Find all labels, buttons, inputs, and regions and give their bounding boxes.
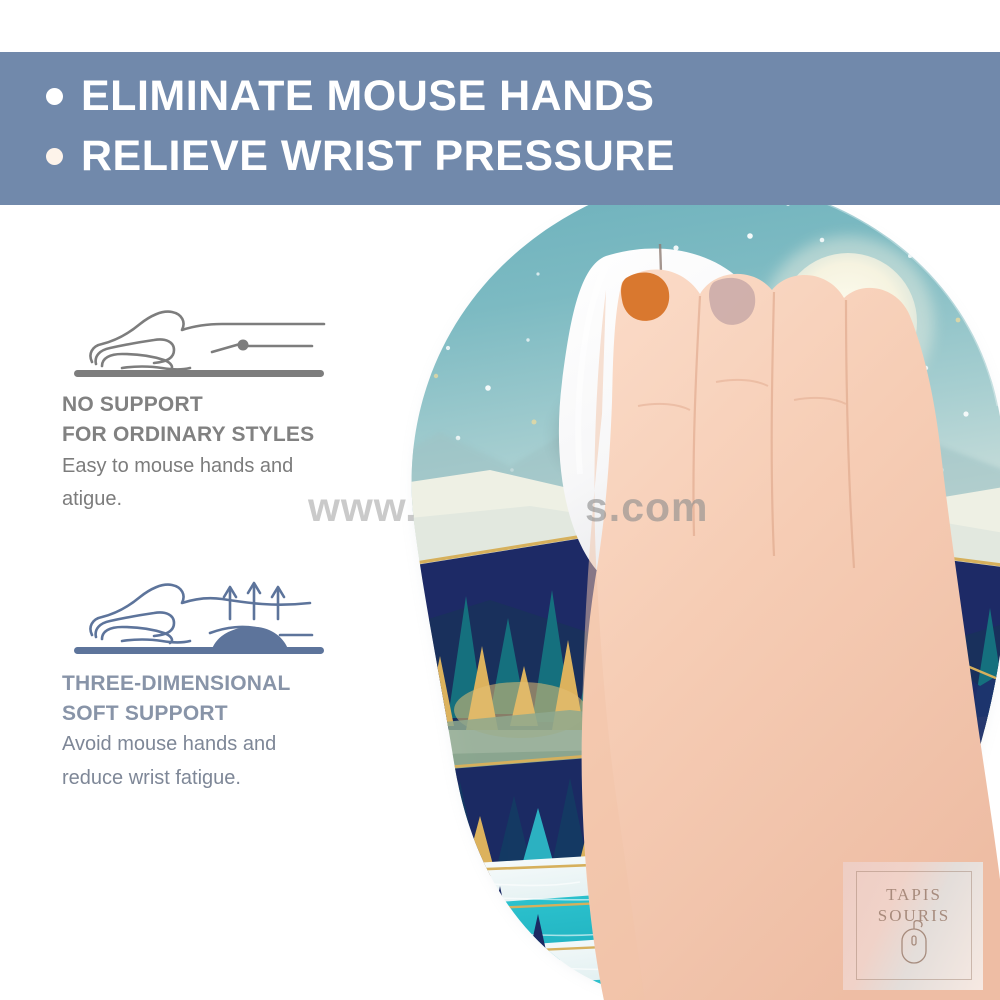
feature-body-line2: reduce wrist fatigue. <box>0 762 400 796</box>
bullet-dot-icon <box>46 148 63 165</box>
promo-bullet-text-2: RELIEVE WRIST PRESSURE <box>81 135 675 178</box>
promo-bullet-item-1: ELIMINATE MOUSE HANDS <box>46 66 675 126</box>
promo-bullet-text-1: ELIMINATE MOUSE HANDS <box>81 75 655 118</box>
feature-title-line2: FOR ORDINARY STYLES <box>0 420 400 450</box>
hand-flat-on-desk-icon <box>62 300 352 390</box>
feature-soft-support: THREE-DIMENSIONAL SOFT SUPPORT Avoid mou… <box>0 573 400 796</box>
feature-title-line1: NO SUPPORT <box>0 390 400 420</box>
promo-banner: ELIMINATE MOUSE HANDS RELIEVE WRIST PRES… <box>0 52 1000 205</box>
feature-body-line2: atigue. <box>0 483 400 517</box>
feature-body-line1: Avoid mouse hands and <box>0 728 400 762</box>
feature-title-line2: SOFT SUPPORT <box>0 699 400 729</box>
feature-title-line1: THREE-DIMENSIONAL <box>0 669 400 699</box>
logo-frame: TAPIS SOURIS <box>856 871 972 980</box>
promo-bullet-list: ELIMINATE MOUSE HANDS RELIEVE WRIST PRES… <box>46 66 675 186</box>
logo-line1: TAPIS <box>857 885 971 906</box>
computer-mouse-icon <box>897 919 931 965</box>
promo-bullet-item-2: RELIEVE WRIST PRESSURE <box>46 126 675 186</box>
product-marketing-image: ELIMINATE MOUSE HANDS RELIEVE WRIST PRES… <box>0 0 1000 1000</box>
feature-no-support: NO SUPPORT FOR ORDINARY STYLES Easy to m… <box>0 300 400 517</box>
feature-body-line1: Easy to mouse hands and <box>0 450 400 484</box>
feature-list: NO SUPPORT FOR ORDINARY STYLES Easy to m… <box>0 300 400 796</box>
hand-on-wrist-rest-icon <box>62 573 352 669</box>
brand-logo-badge: TAPIS SOURIS <box>843 862 983 990</box>
bullet-dot-icon <box>46 88 63 105</box>
